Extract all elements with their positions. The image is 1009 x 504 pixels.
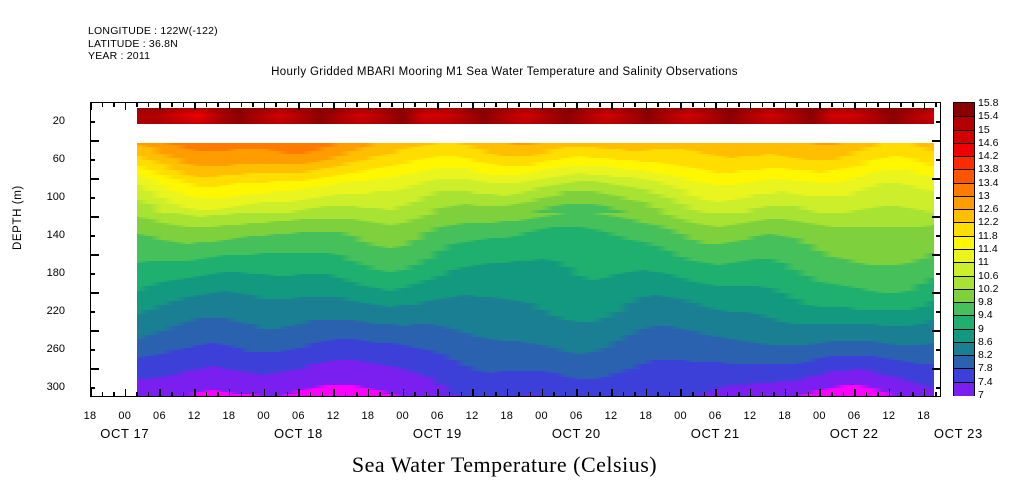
x-axis-tick <box>391 392 393 397</box>
x-axis-tick <box>379 392 381 397</box>
x-axis-tick <box>310 102 312 107</box>
colorbar-band <box>954 329 974 343</box>
x-axis-hour-label: 00 <box>527 410 557 422</box>
colorbar-band <box>954 196 974 210</box>
colorbar-tick-label: 13 <box>978 190 990 202</box>
y-axis-tick-label: 300 <box>25 381 65 393</box>
x-axis-tick <box>368 102 370 110</box>
y-axis-tick <box>932 330 941 332</box>
x-axis-tick <box>275 102 277 107</box>
x-axis-tick <box>715 389 717 397</box>
x-axis-tick <box>461 392 463 397</box>
x-axis-tick <box>333 389 335 397</box>
x-axis-hour-label: 18 <box>770 410 800 422</box>
colorbar-band <box>954 130 974 144</box>
x-axis-tick <box>727 392 729 397</box>
x-axis-day-label: OCT 22 <box>799 426 909 441</box>
x-axis-tick <box>403 102 405 110</box>
x-axis-tick <box>287 392 289 397</box>
x-axis-hour-label: 18 <box>492 410 522 422</box>
colorbar-tick-label: 15.4 <box>978 110 998 122</box>
y-axis-tick <box>936 159 941 161</box>
x-axis-tick <box>484 392 486 397</box>
x-axis-tick <box>414 392 416 397</box>
x-axis-tick <box>472 102 474 110</box>
x-axis-day-label: OCT 17 <box>70 426 180 441</box>
colorbar <box>953 102 975 396</box>
station-metadata: LONGITUDE : 122W(-122) LATITUDE : 36.8N … <box>88 25 218 63</box>
x-axis-tick <box>785 389 787 397</box>
x-axis-tick <box>426 102 428 107</box>
x-axis-tick <box>507 389 509 397</box>
y-axis-tick <box>932 178 941 180</box>
x-axis-tick <box>588 392 590 397</box>
y-axis-tick <box>90 216 99 218</box>
colorbar-tick-label: 15 <box>978 124 990 136</box>
chart-title: Hourly Gridded MBARI Mooring M1 Sea Wate… <box>0 66 1009 78</box>
x-axis-tick <box>680 389 682 397</box>
x-axis-tick <box>924 102 926 110</box>
colorbar-band <box>954 249 974 263</box>
x-axis-tick <box>206 102 208 107</box>
x-axis-tick <box>819 102 821 110</box>
x-axis-hour-label: 00 <box>804 410 834 422</box>
x-axis-hour-label: 00 <box>388 410 418 422</box>
x-axis-day-label: OCT 23 <box>903 426 1009 441</box>
y-axis-tick <box>936 197 941 199</box>
x-axis-tick <box>565 102 567 107</box>
x-axis-tick <box>206 392 208 397</box>
x-axis-tick <box>634 392 636 397</box>
x-axis-tick <box>264 102 266 110</box>
colorbar-tick-label: 9.8 <box>978 296 993 308</box>
x-axis-day-label: OCT 20 <box>521 426 631 441</box>
y-axis-tick <box>932 216 941 218</box>
x-axis-day-label: OCT 18 <box>243 426 353 441</box>
colorbar-band <box>954 222 974 236</box>
colorbar-band <box>954 368 974 382</box>
x-axis-tick <box>136 392 138 397</box>
x-axis-hour-label: 06 <box>144 410 174 422</box>
x-axis-tick <box>692 392 694 397</box>
x-axis-tick <box>148 102 150 107</box>
colorbar-tick-label: 8.6 <box>978 336 993 348</box>
colorbar-tick-label: 9 <box>978 323 984 335</box>
x-axis-tick <box>611 102 613 110</box>
colorbar-band <box>954 289 974 303</box>
y-axis-tick <box>936 311 941 313</box>
x-axis-tick <box>634 102 636 107</box>
colorbar-tick-label: 11.4 <box>978 243 998 255</box>
y-axis-tick-label: 100 <box>25 191 65 203</box>
colorbar-tick-label: 13.4 <box>978 177 998 189</box>
colorbar-tick-label: 7 <box>978 389 984 401</box>
x-axis-hour-label: 00 <box>110 410 140 422</box>
x-axis-tick <box>669 392 671 397</box>
x-axis-tick <box>680 102 682 110</box>
y-axis-tick <box>90 159 95 161</box>
x-axis-tick <box>125 389 127 397</box>
y-axis-tick-label: 140 <box>25 229 65 241</box>
plot-caption: Sea Water Temperature (Celsius) <box>0 452 1009 478</box>
y-axis-tick <box>90 178 99 180</box>
x-axis-tick <box>345 392 347 397</box>
x-axis-tick <box>159 389 161 397</box>
x-axis-tick <box>530 102 532 107</box>
x-axis-tick <box>843 392 845 397</box>
x-axis-hour-label: 18 <box>75 410 105 422</box>
x-axis-tick <box>102 102 104 107</box>
x-axis-hour-label: 18 <box>631 410 661 422</box>
x-axis-tick <box>171 392 173 397</box>
y-axis-tick <box>936 273 941 275</box>
surface-temperature-band <box>137 108 934 124</box>
x-axis-tick <box>553 392 555 397</box>
colorbar-band <box>954 143 974 157</box>
y-axis-tick-label: 260 <box>25 343 65 355</box>
colorbar-band <box>954 382 974 396</box>
x-axis-tick <box>217 102 219 107</box>
x-axis-tick <box>866 392 868 397</box>
x-axis-tick <box>796 392 798 397</box>
x-axis-tick <box>623 102 625 107</box>
x-axis-tick <box>426 392 428 397</box>
x-axis-tick <box>646 389 648 397</box>
x-axis-tick <box>692 102 694 107</box>
x-axis-tick <box>773 102 775 107</box>
x-axis-hour-label: 06 <box>839 410 869 422</box>
x-axis-tick <box>854 389 856 397</box>
colorbar-tick-label: 11 <box>978 256 989 268</box>
colorbar-band <box>954 183 974 197</box>
x-axis-tick <box>171 102 173 107</box>
x-axis-tick <box>924 389 926 397</box>
x-axis-tick <box>704 102 706 107</box>
colorbar-tick-label: 12.6 <box>978 203 998 215</box>
x-axis-day-label: OCT 19 <box>382 426 492 441</box>
x-axis-tick <box>750 389 752 397</box>
x-axis-tick <box>298 389 300 397</box>
x-axis-tick <box>854 102 856 110</box>
x-axis-tick <box>287 102 289 107</box>
x-axis-tick <box>831 102 833 107</box>
y-axis-tick <box>90 292 99 294</box>
y-axis-tick-label: 20 <box>25 115 65 127</box>
x-axis-tick <box>912 102 914 107</box>
water-column-contours <box>137 143 934 396</box>
y-axis-tick <box>90 368 99 370</box>
x-axis-tick <box>727 102 729 107</box>
y-axis-tick <box>90 121 95 123</box>
y-axis-tick <box>936 349 941 351</box>
x-axis-hour-label: 12 <box>318 410 348 422</box>
x-axis-tick <box>646 102 648 110</box>
y-axis-tick <box>90 330 99 332</box>
x-axis-hour-label: 18 <box>214 410 244 422</box>
y-axis-tick <box>90 349 95 351</box>
colorbar-tick-label: 10.6 <box>978 270 998 282</box>
colorbar-tick-label: 9.4 <box>978 309 993 321</box>
x-axis-tick <box>900 102 902 107</box>
x-axis-tick <box>877 102 879 107</box>
x-axis-tick <box>750 102 752 110</box>
x-axis-hour-label: 12 <box>596 410 626 422</box>
x-axis-tick <box>113 392 115 397</box>
x-axis-tick <box>217 392 219 397</box>
x-axis-tick <box>333 102 335 110</box>
colorbar-band <box>954 342 974 356</box>
x-axis-tick <box>542 389 544 397</box>
x-axis-tick <box>831 392 833 397</box>
longitude-text: LONGITUDE : 122W(-122) <box>88 25 218 37</box>
x-axis-tick <box>241 392 243 397</box>
x-axis-tick <box>356 392 358 397</box>
x-axis-tick <box>322 392 324 397</box>
x-axis-hour-label: 12 <box>179 410 209 422</box>
x-axis-tick <box>599 392 601 397</box>
x-axis-tick <box>229 389 231 397</box>
x-axis-tick <box>437 102 439 110</box>
x-axis-tick <box>900 392 902 397</box>
x-axis-tick <box>414 102 416 107</box>
colorbar-band <box>954 103 974 116</box>
x-axis-tick <box>762 392 764 397</box>
x-axis-tick <box>125 102 127 110</box>
y-axis-tick <box>90 197 95 199</box>
y-axis-tick <box>932 292 941 294</box>
y-axis-tick <box>936 235 941 237</box>
x-axis-tick <box>437 389 439 397</box>
colorbar-band <box>954 169 974 183</box>
colorbar-tick-label: 7.8 <box>978 362 993 374</box>
x-axis-tick <box>715 102 717 110</box>
y-axis-tick-label: 220 <box>25 305 65 317</box>
y-axis-label: DEPTH (m) <box>12 185 24 250</box>
x-axis-tick <box>889 389 891 397</box>
x-axis-tick <box>183 102 185 107</box>
x-axis-tick <box>136 102 138 107</box>
x-axis-tick <box>762 102 764 107</box>
x-axis-hour-label: 00 <box>665 410 695 422</box>
x-axis-tick <box>298 102 300 110</box>
colorbar-tick-label: 10.2 <box>978 283 998 295</box>
y-axis-tick <box>90 273 95 275</box>
x-axis-tick <box>542 102 544 110</box>
x-axis-tick <box>565 392 567 397</box>
x-axis-tick <box>843 102 845 107</box>
x-axis-tick <box>252 102 254 107</box>
x-axis-tick <box>391 102 393 107</box>
colorbar-tick-label: 15.8 <box>978 97 998 109</box>
x-axis-tick <box>773 392 775 397</box>
colorbar-tick-label: 14.6 <box>978 137 998 149</box>
x-axis-tick <box>518 102 520 107</box>
x-axis-tick <box>461 102 463 107</box>
x-axis-hour-label: 12 <box>874 410 904 422</box>
y-axis-tick <box>90 235 95 237</box>
x-axis-tick <box>518 392 520 397</box>
latitude-text: LATITUDE : 36.8N <box>88 38 178 50</box>
y-axis-tick <box>90 311 95 313</box>
plot-clip <box>91 103 940 396</box>
x-axis-tick <box>264 389 266 397</box>
x-axis-tick <box>322 102 324 107</box>
x-axis-hour-label: 18 <box>353 410 383 422</box>
x-axis-tick <box>241 102 243 107</box>
x-axis-hour-label: 12 <box>457 410 487 422</box>
x-axis-hour-label: 00 <box>249 410 279 422</box>
x-axis-tick <box>657 392 659 397</box>
x-axis-hour-label: 06 <box>422 410 452 422</box>
x-axis-day-label: OCT 21 <box>660 426 770 441</box>
colorbar-band <box>954 116 974 130</box>
x-axis-tick <box>738 102 740 107</box>
x-axis-tick <box>275 392 277 397</box>
x-axis-tick <box>877 392 879 397</box>
x-axis-tick <box>738 392 740 397</box>
colorbar-tick-label: 8.2 <box>978 349 993 361</box>
x-axis-tick <box>669 102 671 107</box>
x-axis-hour-label: 06 <box>700 410 730 422</box>
x-axis-tick <box>785 102 787 110</box>
colorbar-band <box>954 355 974 369</box>
x-axis-tick <box>553 102 555 107</box>
colorbar-band <box>954 315 974 329</box>
x-axis-tick <box>588 102 590 107</box>
x-axis-tick <box>889 102 891 110</box>
colorbar-band <box>954 262 974 276</box>
x-axis-tick <box>102 392 104 397</box>
colorbar-tick-label: 13.8 <box>978 163 998 175</box>
colorbar-band <box>954 209 974 223</box>
colorbar-tick-label: 7.4 <box>978 376 993 388</box>
x-axis-tick <box>819 389 821 397</box>
colorbar-band <box>954 276 974 290</box>
y-axis-tick <box>936 121 941 123</box>
y-axis-tick <box>932 254 941 256</box>
x-axis-tick <box>148 392 150 397</box>
colorbar-band <box>954 302 974 316</box>
colorbar-tick-label: 12.2 <box>978 216 998 228</box>
x-axis-tick <box>912 392 914 397</box>
y-axis-tick-label: 60 <box>25 153 65 165</box>
colorbar-tick-label: 14.2 <box>978 150 998 162</box>
y-axis-tick <box>90 254 99 256</box>
x-axis-tick <box>403 389 405 397</box>
y-axis-tick <box>90 140 99 142</box>
x-axis-tick <box>194 102 196 110</box>
x-axis-tick <box>484 102 486 107</box>
x-axis-tick <box>113 102 115 107</box>
x-axis-tick <box>183 392 185 397</box>
x-axis-tick <box>576 389 578 397</box>
x-axis-tick <box>194 389 196 397</box>
x-axis-tick <box>808 392 810 397</box>
x-axis-hour-label: 18 <box>909 410 939 422</box>
colorbar-band <box>954 236 974 250</box>
x-axis-tick <box>599 102 601 107</box>
x-axis-tick <box>356 102 358 107</box>
x-axis-tick <box>507 102 509 110</box>
x-axis-tick <box>90 389 92 397</box>
colorbar-band <box>954 156 974 170</box>
x-axis-hour-label: 06 <box>561 410 591 422</box>
plot-area <box>90 102 941 397</box>
x-axis-tick <box>657 102 659 107</box>
year-text: YEAR : 2011 <box>88 50 150 62</box>
x-axis-hour-label: 06 <box>283 410 313 422</box>
y-axis-tick-label: 180 <box>25 267 65 279</box>
x-axis-tick <box>252 392 254 397</box>
x-axis-tick <box>229 102 231 110</box>
x-axis-tick <box>530 392 532 397</box>
x-axis-tick <box>611 389 613 397</box>
y-axis-tick <box>936 387 941 389</box>
x-axis-tick <box>796 102 798 107</box>
x-axis-tick <box>368 389 370 397</box>
contour-layer <box>137 394 934 396</box>
x-axis-tick <box>345 102 347 107</box>
x-axis-tick <box>866 102 868 107</box>
colorbar-tick-label: 11.8 <box>978 230 998 242</box>
x-axis-tick <box>623 392 625 397</box>
x-axis-tick <box>449 102 451 107</box>
x-axis-tick <box>310 392 312 397</box>
x-axis-tick <box>449 392 451 397</box>
x-axis-tick <box>935 392 937 397</box>
x-axis-tick <box>495 102 497 107</box>
x-axis-tick <box>472 389 474 397</box>
surface-band-shading <box>137 108 934 124</box>
x-axis-tick <box>379 102 381 107</box>
x-axis-tick <box>935 102 937 107</box>
y-axis-tick <box>932 368 941 370</box>
x-axis-tick <box>495 392 497 397</box>
x-axis-hour-label: 12 <box>735 410 765 422</box>
x-axis-tick <box>576 102 578 110</box>
y-axis-tick <box>932 140 941 142</box>
x-axis-tick <box>808 102 810 107</box>
x-axis-tick <box>704 392 706 397</box>
x-axis-tick <box>159 102 161 110</box>
x-axis-tick <box>90 102 92 110</box>
